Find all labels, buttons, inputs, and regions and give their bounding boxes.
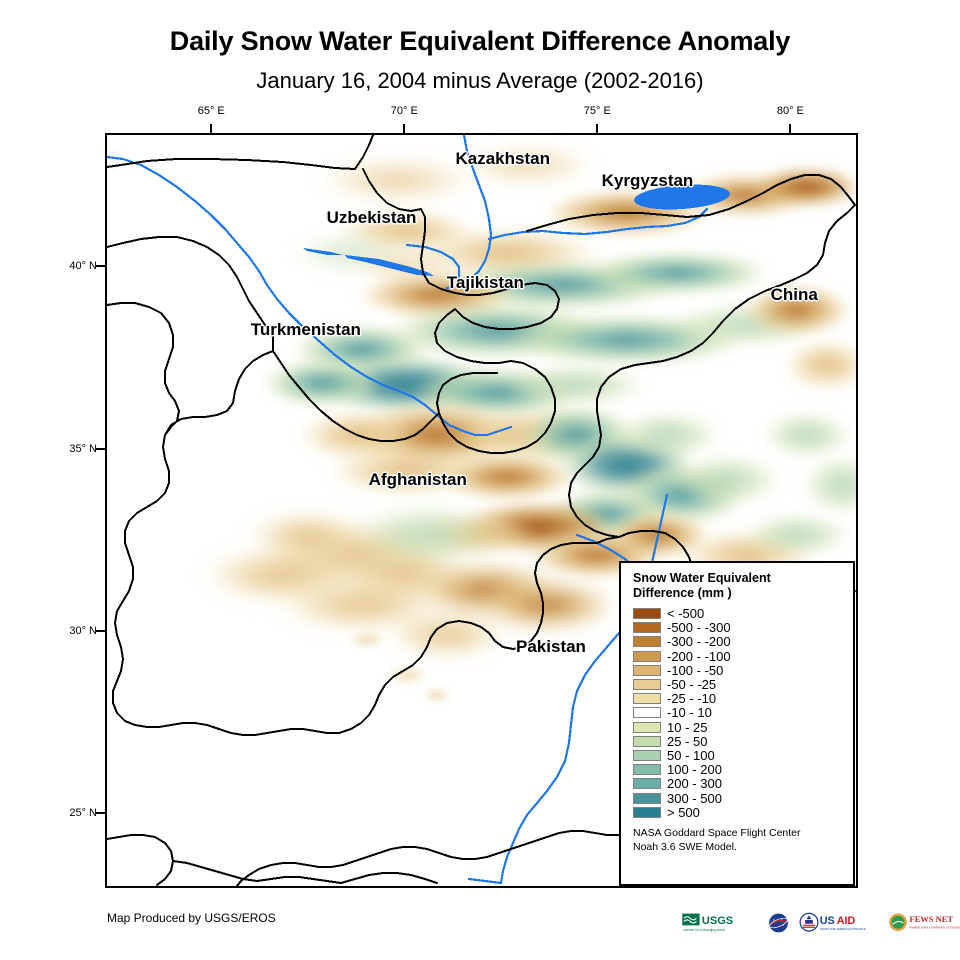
lat-tick-label-3: 25° N	[53, 807, 97, 819]
lat-tick-1	[96, 448, 105, 450]
lat-tick-label-2: 30° N	[53, 625, 97, 637]
lon-tick-label-3: 80° E	[777, 105, 804, 117]
nasa-logo	[767, 912, 790, 934]
legend-row: 50 - 100	[633, 748, 843, 762]
legend-swatch	[633, 778, 661, 789]
usgs-logo: USGS science for a changing world	[682, 912, 758, 934]
agency-logos: USGS science for a changing world US AID…	[682, 908, 960, 938]
legend-footer-line2: Noah 3.6 SWE Model.	[633, 840, 843, 854]
legend-label: -100 - -50	[667, 664, 723, 677]
legend-panel: Snow Water Equivalent Difference (mm ) <…	[619, 561, 855, 886]
legend-label: 100 - 200	[667, 763, 722, 776]
legend-label: -300 - -200	[667, 635, 731, 648]
legend-row: 10 - 25	[633, 720, 843, 734]
legend-swatch	[633, 807, 661, 818]
legend-swatch	[633, 750, 661, 761]
legend-swatch	[633, 622, 661, 633]
legend-label: -500 - -300	[667, 621, 731, 634]
legend-title-line1: Snow Water Equivalent	[633, 571, 843, 586]
legend-row: -200 - -100	[633, 649, 843, 663]
legend-swatch	[633, 707, 661, 718]
legend-label: -10 - 10	[667, 706, 712, 719]
page-subtitle: January 16, 2004 minus Average (2002-201…	[0, 68, 960, 94]
lat-tick-0	[96, 265, 105, 267]
legend-row: 200 - 300	[633, 777, 843, 791]
legend-row: 300 - 500	[633, 791, 843, 805]
legend-class-list: < -500-500 - -300-300 - -200-200 - -100-…	[633, 607, 843, 820]
legend-row: -100 - -50	[633, 663, 843, 677]
svg-text:US: US	[820, 915, 835, 927]
map-credit: Map Produced by USGS/EROS	[107, 911, 276, 925]
legend-swatch	[633, 665, 661, 676]
legend-label: 10 - 25	[667, 721, 707, 734]
map-page: Daily Snow Water Equivalent Difference A…	[0, 0, 960, 960]
lon-tick-label-2: 75° E	[584, 105, 611, 117]
lon-tick-0	[210, 124, 212, 133]
legend-label: -200 - -100	[667, 650, 731, 663]
svg-text:science for a changing world: science for a changing world	[683, 928, 725, 932]
legend-label: 300 - 500	[667, 792, 722, 805]
legend-title: Snow Water Equivalent Difference (mm )	[633, 571, 843, 602]
legend-row: > 500	[633, 805, 843, 819]
legend-row: -10 - 10	[633, 706, 843, 720]
fewsnet-logo: FEWS NET FAMINE EARLY WARNING SYSTEMS NE…	[888, 912, 960, 934]
lon-tick-2	[596, 124, 598, 133]
legend-row: 25 - 50	[633, 734, 843, 748]
legend-row: -50 - -25	[633, 677, 843, 691]
lon-tick-1	[403, 124, 405, 133]
legend-row: < -500	[633, 607, 843, 621]
legend-footer-line1: NASA Goddard Space Flight Center	[633, 826, 843, 840]
legend-swatch	[633, 651, 661, 662]
lat-tick-label-1: 35° N	[53, 443, 97, 455]
legend-swatch	[633, 693, 661, 704]
svg-text:FEWS NET: FEWS NET	[910, 914, 954, 924]
legend-row: -300 - -200	[633, 635, 843, 649]
legend-swatch	[633, 764, 661, 775]
legend-label: -50 - -25	[667, 678, 716, 691]
legend-label: > 500	[667, 806, 700, 819]
legend-row: -25 - -10	[633, 692, 843, 706]
legend-row: 100 - 200	[633, 763, 843, 777]
legend-title-line2: Difference (mm )	[633, 586, 843, 601]
legend-swatch	[633, 736, 661, 747]
lon-tick-label-1: 70° E	[391, 105, 418, 117]
svg-text:AID: AID	[837, 915, 856, 927]
legend-label: < -500	[667, 607, 704, 620]
legend-label: -25 - -10	[667, 692, 716, 705]
svg-text:USGS: USGS	[702, 915, 733, 927]
lat-tick-3	[96, 812, 105, 814]
page-title: Daily Snow Water Equivalent Difference A…	[0, 26, 960, 57]
legend-swatch	[633, 636, 661, 647]
legend-swatch	[633, 679, 661, 690]
lon-tick-label-0: 65° E	[198, 105, 225, 117]
lat-tick-label-0: 40° N	[53, 260, 97, 272]
usaid-logo: US AID FROM THE AMERICAN PEOPLE	[799, 912, 879, 934]
svg-text:FROM THE AMERICAN PEOPLE: FROM THE AMERICAN PEOPLE	[820, 927, 866, 931]
lat-tick-2	[96, 630, 105, 632]
svg-text:FAMINE EARLY WARNING SYSTEMS N: FAMINE EARLY WARNING SYSTEMS NETWORK	[910, 925, 960, 929]
legend-label: 50 - 100	[667, 749, 715, 762]
legend-label: 25 - 50	[667, 735, 707, 748]
lon-tick-3	[789, 124, 791, 133]
legend-footer: NASA Goddard Space Flight Center Noah 3.…	[633, 826, 843, 854]
legend-swatch	[633, 793, 661, 804]
legend-swatch	[633, 722, 661, 733]
legend-label: 200 - 300	[667, 777, 722, 790]
legend-row: -500 - -300	[633, 621, 843, 635]
legend-swatch	[633, 608, 661, 619]
